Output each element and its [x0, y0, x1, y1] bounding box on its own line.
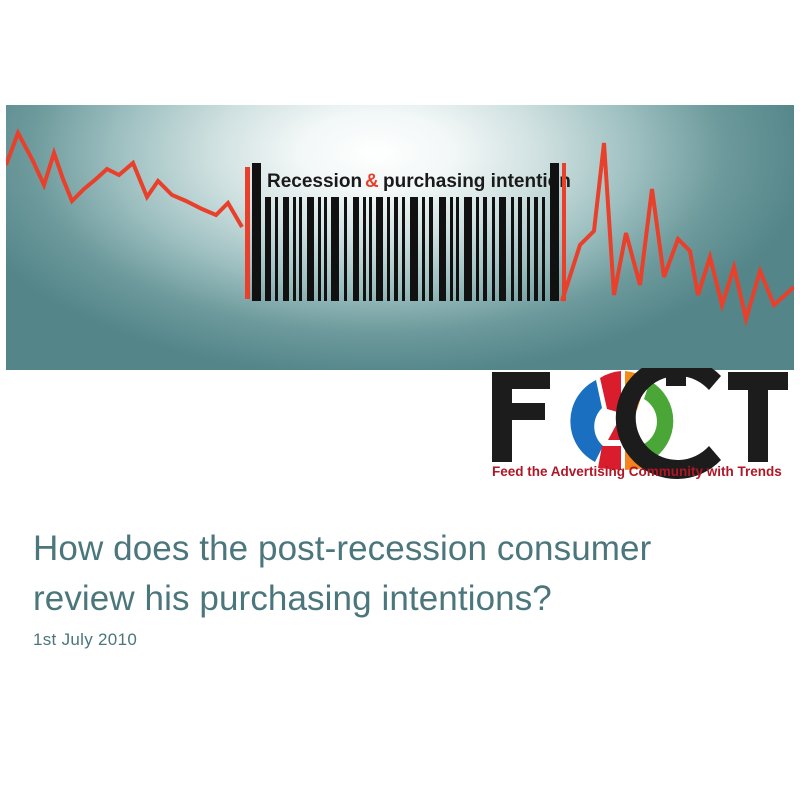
page-title-line-1: How does the post-recession consumer	[33, 524, 753, 574]
hero-illustration: Recession & purchasing intention	[6, 105, 794, 370]
fact-logo-art: Feed the Advertising Community with Tren…	[490, 368, 790, 480]
barcode: Recession & purchasing intention	[245, 163, 571, 301]
logo-letter-f	[492, 372, 550, 462]
barcode-guard-black-right	[550, 163, 559, 301]
logo-a-segment-blue	[570, 380, 603, 462]
svg-text:purchasing intention: purchasing intention	[383, 171, 571, 192]
logo-letter-t	[728, 372, 788, 462]
page-title-line-2: review his purchasing intentions?	[33, 574, 753, 624]
page-title: How does the post-recession consumer rev…	[33, 524, 753, 624]
barcode-bars	[265, 197, 545, 301]
barcode-guard-black-left	[252, 163, 261, 301]
fact-logo: Feed the Advertising Community with Tren…	[490, 368, 790, 480]
stock-line-left	[6, 133, 242, 227]
barcode-caption: Recession & purchasing intention	[267, 171, 571, 192]
stock-line-right	[562, 143, 794, 319]
presentation-date: 1st July 2010	[33, 630, 137, 650]
barcode-guard-left	[245, 167, 250, 299]
svg-text:&: &	[365, 171, 379, 192]
barcode-guard-right	[562, 163, 566, 301]
hero-banner: Recession & purchasing intention	[6, 105, 794, 370]
svg-text:Recession: Recession	[267, 171, 362, 192]
logo-tagline: Feed the Advertising Community with Tren…	[492, 464, 782, 479]
slide-root: Recession & purchasing intention	[0, 0, 800, 800]
